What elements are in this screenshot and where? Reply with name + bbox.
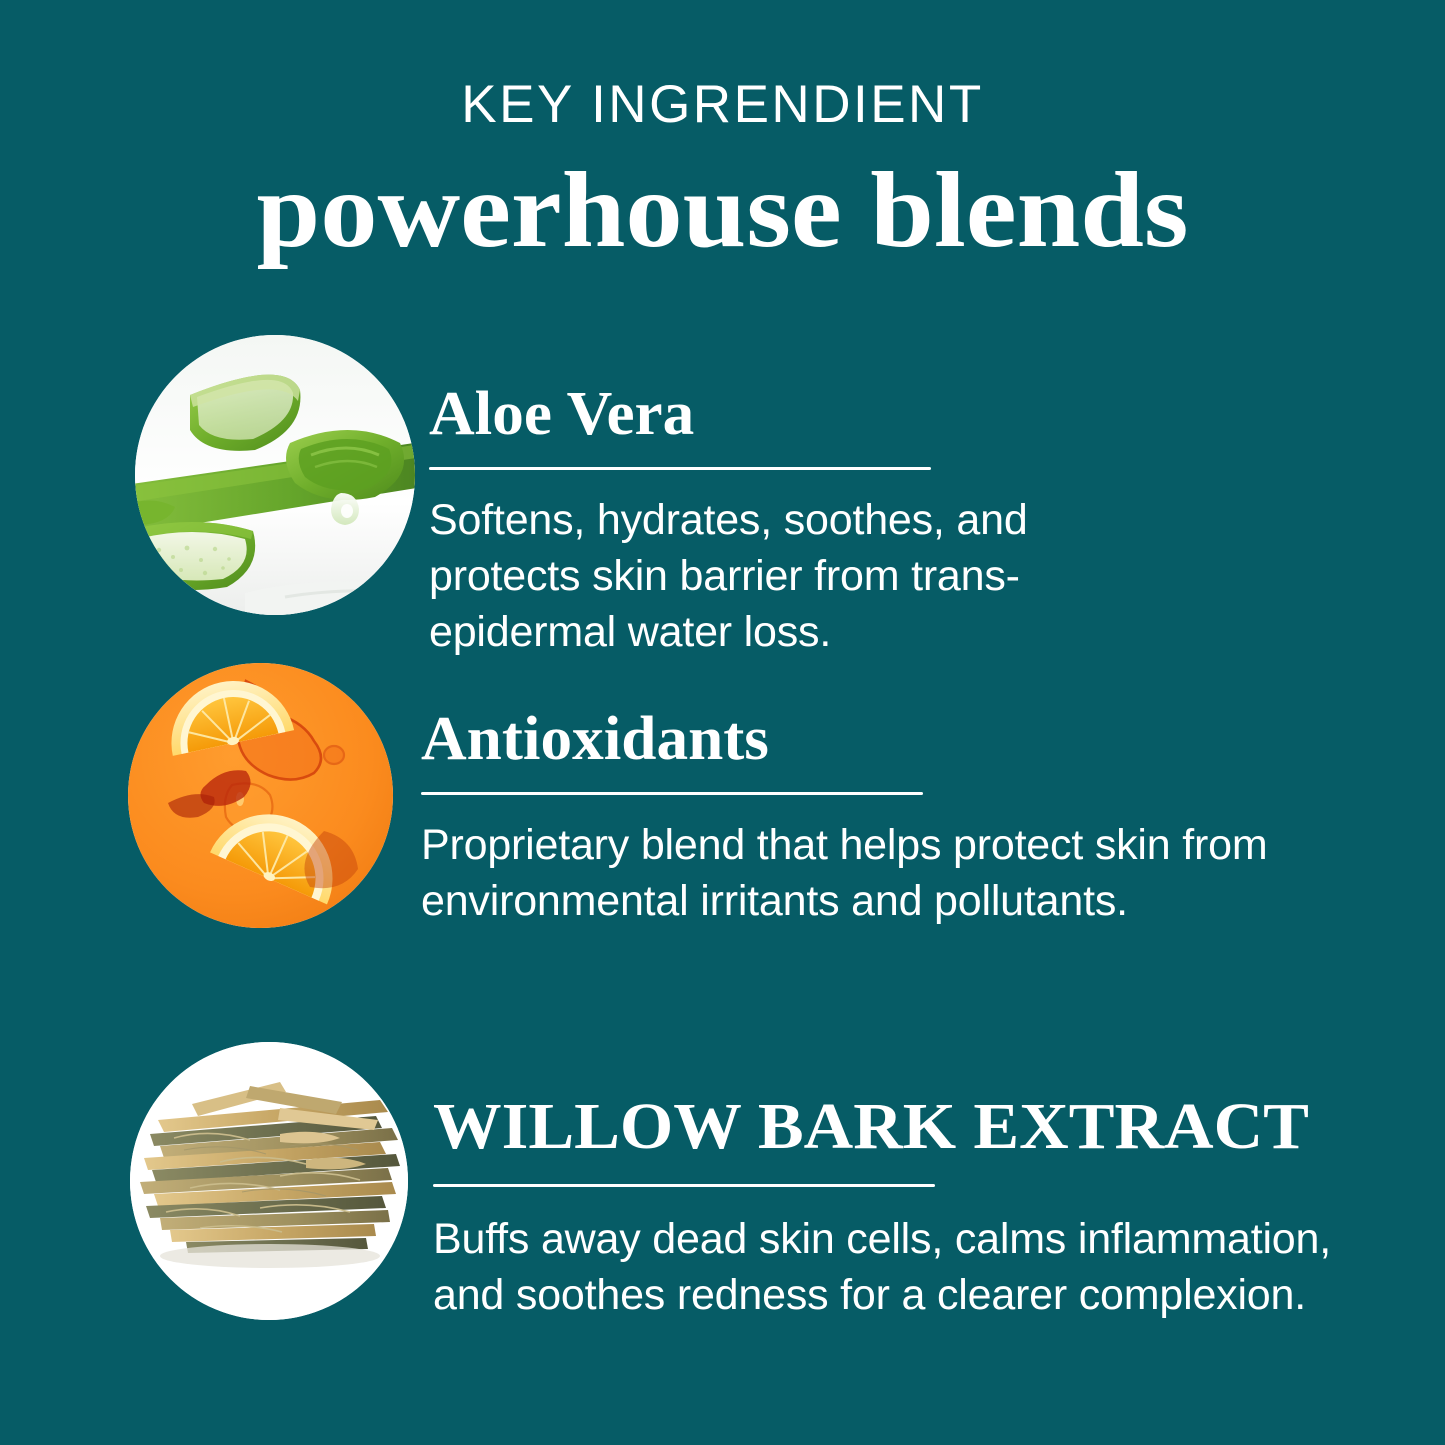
page-title: powerhouse blends xyxy=(0,157,1445,265)
title-divider xyxy=(429,467,931,470)
aloe-vera-photo xyxy=(135,335,415,615)
ingredient-title: Antioxidants xyxy=(421,708,1339,770)
ingredient-description: Softens, hydrates, soothes, and protects… xyxy=(429,492,1159,660)
ingredient-content-aloe-vera: Aloe Vera Softens, hydrates, soothes, an… xyxy=(429,335,1219,660)
title-divider xyxy=(433,1184,935,1187)
ingredient-description: Buffs away dead skin cells, calms inflam… xyxy=(433,1211,1333,1323)
ingredient-title: WILLOW BARK EXTRACT xyxy=(433,1094,1374,1160)
ingredient-row-aloe-vera: Aloe Vera Softens, hydrates, soothes, an… xyxy=(135,335,1219,660)
page-header: KEY INGRENDIENT powerhouse blends xyxy=(0,0,1445,265)
ingredient-row-antioxidants: Antioxidants Proprietary blend that help… xyxy=(128,663,1321,929)
ingredient-content-antioxidants: Antioxidants Proprietary blend that help… xyxy=(421,663,1321,929)
ingredient-description: Proprietary blend that helps protect ski… xyxy=(421,817,1301,929)
willow-bark-photo xyxy=(130,1042,408,1320)
ingredient-row-willow-bark: WILLOW BARK EXTRACT Buffs away dead skin… xyxy=(130,1042,1338,1323)
eyebrow-label: KEY INGRENDIENT xyxy=(0,78,1445,131)
citrus-antioxidants-photo xyxy=(128,663,393,928)
ingredient-title: Aloe Vera xyxy=(429,383,1235,445)
ingredient-content-willow-bark: WILLOW BARK EXTRACT Buffs away dead skin… xyxy=(433,1042,1338,1323)
title-divider xyxy=(421,792,923,795)
